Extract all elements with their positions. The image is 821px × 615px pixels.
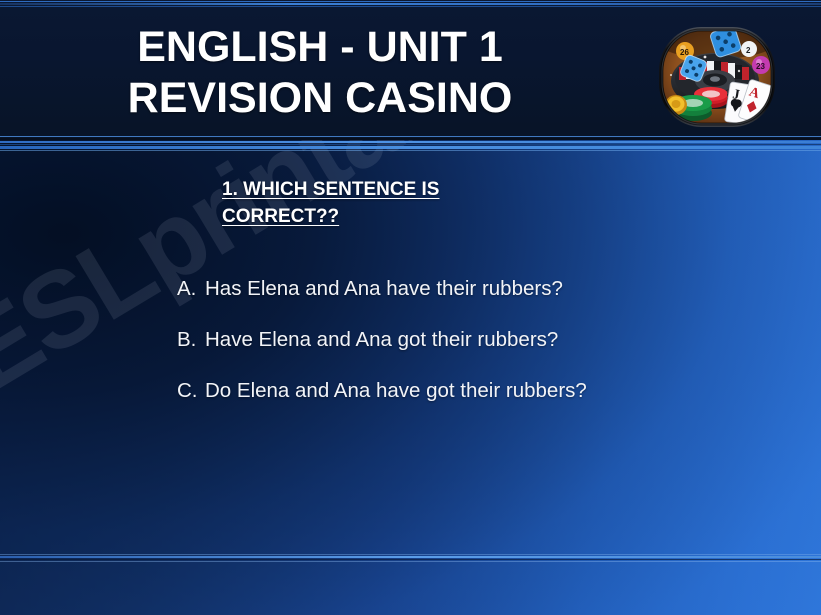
header-top-rule-1 xyxy=(0,1,821,2)
header-top-rule-3 xyxy=(0,6,821,7)
title-line-2: REVISION CASINO xyxy=(0,73,640,124)
separator-line-5 xyxy=(0,146,821,149)
title-line-1: ENGLISH - UNIT 1 xyxy=(0,22,640,73)
answer-options-list: A. Has Elena and Ana have their rubbers?… xyxy=(177,276,797,429)
svg-text:2: 2 xyxy=(746,46,751,55)
footer-rule-line-3 xyxy=(0,559,821,560)
header-top-rule-2 xyxy=(0,3,821,5)
slide-canvas: ESLprintables.com ENGLISH - UNIT 1 REVIS… xyxy=(0,0,821,615)
separator-line-1 xyxy=(0,136,821,137)
answer-option-b[interactable]: B. Have Elena and Ana got their rubbers? xyxy=(177,327,797,353)
option-c-label: C. xyxy=(177,378,205,404)
answer-option-a[interactable]: A. Has Elena and Ana have their rubbers? xyxy=(177,276,797,302)
separator-line-3 xyxy=(0,141,821,143)
separator-line-4 xyxy=(0,144,821,145)
option-b-text: Have Elena and Ana got their rubbers? xyxy=(205,327,558,353)
option-b-label: B. xyxy=(177,327,205,353)
casino-roulette-icon: J A 26 2 23 xyxy=(653,19,781,133)
svg-text:23: 23 xyxy=(756,62,765,71)
option-a-label: A. xyxy=(177,276,205,302)
separator-line-6 xyxy=(0,150,821,151)
separator-line-2 xyxy=(0,138,821,140)
option-c-text: Do Elena and Ana have got their rubbers? xyxy=(205,378,587,404)
slide-title: ENGLISH - UNIT 1 REVISION CASINO xyxy=(0,22,640,124)
footer-rule xyxy=(0,554,821,566)
option-a-text: Has Elena and Ana have their rubbers? xyxy=(205,276,563,302)
footer-rule-line-2 xyxy=(0,556,821,558)
header-separator xyxy=(0,136,821,158)
answer-option-c[interactable]: C. Do Elena and Ana have got their rubbe… xyxy=(177,378,797,404)
footer-rule-line-1 xyxy=(0,554,821,555)
footer-rule-line-4 xyxy=(0,561,821,562)
question-heading: 1. WHICH SENTENCE IS CORRECT?? xyxy=(222,176,552,230)
